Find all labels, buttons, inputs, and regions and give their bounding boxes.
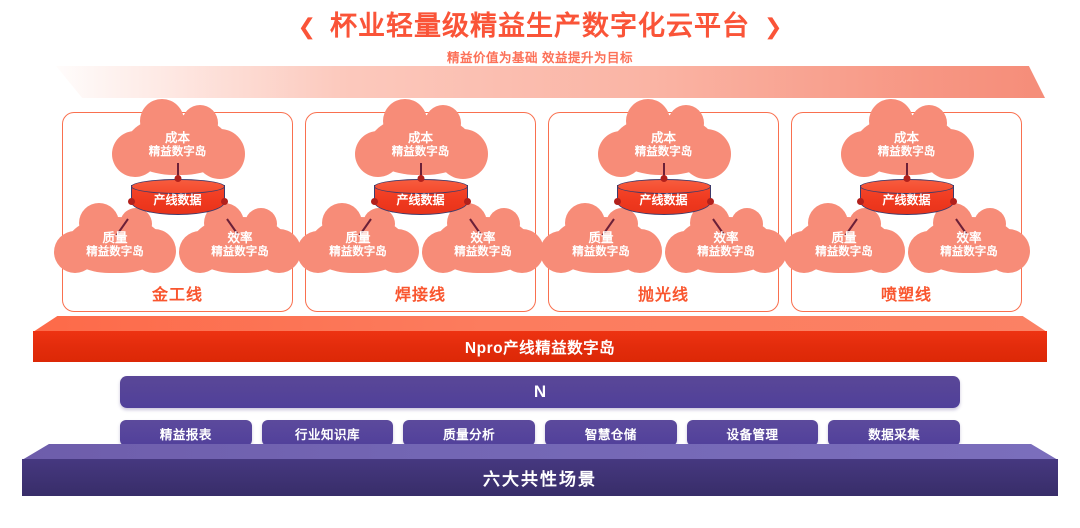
database-cylinder[interactable]: 产线数据: [860, 179, 954, 219]
production-line-card[interactable]: 成本 精益数字岛 质量 精益数字岛: [62, 112, 293, 312]
production-line-card[interactable]: 成本 精益数字岛 质量 精益数字岛: [791, 112, 1022, 312]
common-scenarios-slab[interactable]: 六大共性场景: [22, 444, 1058, 496]
cloud-subtitle: 精益数字岛: [815, 246, 873, 260]
cloud-title: 质量: [86, 231, 144, 246]
cloud-title: 成本: [149, 131, 207, 146]
cloud-title: 效率: [940, 231, 998, 246]
page-header: ❮ 杯业轻量级精益生产数字化云平台 ❯ 精益价值为基础 效益提升为目标: [0, 12, 1080, 66]
cloud-area: 成本 精益数字岛 质量 精益数字岛: [63, 113, 292, 275]
scenario-button-industry-knowledge[interactable]: 行业知识库: [262, 420, 394, 446]
scenario-button-lean-report[interactable]: 精益报表: [120, 420, 252, 446]
cloud-title: 质量: [815, 231, 873, 246]
database-label: 产线数据: [617, 191, 711, 208]
npro-platform-label: Npro产线精益数字岛: [33, 331, 1047, 362]
cloud-title: 成本: [392, 131, 450, 146]
cloud-subtitle: 精益数字岛: [635, 146, 693, 160]
cloud-title: 效率: [697, 231, 755, 246]
cloud-area: 成本 精益数字岛 质量 精益数字岛: [792, 113, 1021, 275]
scenario-button-data-collection[interactable]: 数据采集: [828, 420, 960, 446]
cloud-title: 成本: [878, 131, 936, 146]
common-scenarios-label: 六大共性场景: [22, 459, 1058, 496]
production-line-name: 抛光线: [549, 281, 778, 305]
scenario-button-smart-warehouse[interactable]: 智慧仓储: [545, 420, 677, 446]
cloud-title: 质量: [329, 231, 387, 246]
cloud-area: 成本 精益数字岛 质量 精益数字岛: [306, 113, 535, 275]
page-subtitle: 精益价值为基础 效益提升为目标: [0, 47, 1080, 66]
cloud-subtitle: 精益数字岛: [572, 246, 630, 260]
cloud-subtitle: 精益数字岛: [454, 246, 512, 260]
cloud-subtitle: 精益数字岛: [878, 146, 936, 160]
npro-platform-slab[interactable]: Npro产线精益数字岛: [33, 316, 1047, 362]
cloud-subtitle: 精益数字岛: [392, 146, 450, 160]
cloud-efficiency[interactable]: 效率 精益数字岛: [192, 217, 288, 273]
production-line-name: 金工线: [63, 281, 292, 305]
connector-dot-top: [660, 175, 667, 182]
scenario-button-row: 精益报表 行业知识库 质量分析 智慧仓储 设备管理 数据采集: [120, 420, 960, 446]
cloud-subtitle: 精益数字岛: [329, 246, 387, 260]
cloud-area: 成本 精益数字岛 质量 精益数字岛: [549, 113, 778, 275]
cloud-quality[interactable]: 质量 精益数字岛: [796, 217, 892, 273]
left-arrow-icon: ❮: [298, 16, 316, 38]
production-line-name: 喷塑线: [792, 281, 1021, 305]
cloud-quality[interactable]: 质量 精益数字岛: [310, 217, 406, 273]
cloud-efficiency[interactable]: 效率 精益数字岛: [435, 217, 531, 273]
diagram-canvas: ❮ 杯业轻量级精益生产数字化云平台 ❯ 精益价值为基础 效益提升为目标 成本 精…: [0, 0, 1080, 528]
cloud-subtitle: 精益数字岛: [940, 246, 998, 260]
cloud-efficiency[interactable]: 效率 精益数字岛: [678, 217, 774, 273]
connector-dot-top: [903, 175, 910, 182]
production-line-card[interactable]: 成本 精益数字岛 质量 精益数字岛: [305, 112, 536, 312]
database-cylinder[interactable]: 产线数据: [131, 179, 225, 219]
database-cylinder[interactable]: 产线数据: [374, 179, 468, 219]
production-line-cards: 成本 精益数字岛 质量 精益数字岛: [62, 112, 1022, 312]
production-line-card[interactable]: 成本 精益数字岛 质量 精益数字岛: [548, 112, 779, 312]
page-title: 杯业轻量级精益生产数字化云平台: [330, 12, 750, 42]
scenario-button-equipment-management[interactable]: 设备管理: [687, 420, 819, 446]
cloud-subtitle: 精益数字岛: [211, 246, 269, 260]
database-cylinder[interactable]: 产线数据: [617, 179, 711, 219]
database-label: 产线数据: [374, 191, 468, 208]
n-platform-bar[interactable]: N: [120, 376, 960, 408]
cloud-title: 效率: [211, 231, 269, 246]
right-arrow-icon: ❯: [764, 16, 782, 38]
slab-top-face: [33, 316, 1047, 332]
cloud-title: 成本: [635, 131, 693, 146]
database-label: 产线数据: [131, 191, 225, 208]
deck-top-surface: [40, 66, 1045, 98]
cloud-efficiency[interactable]: 效率 精益数字岛: [921, 217, 1017, 273]
cloud-subtitle: 精益数字岛: [149, 146, 207, 160]
cloud-quality[interactable]: 质量 精益数字岛: [553, 217, 649, 273]
cloud-title: 质量: [572, 231, 630, 246]
cloud-title: 效率: [454, 231, 512, 246]
cloud-quality[interactable]: 质量 精益数字岛: [67, 217, 163, 273]
connector-dot-top: [174, 175, 181, 182]
scenario-button-quality-analysis[interactable]: 质量分析: [403, 420, 535, 446]
cloud-subtitle: 精益数字岛: [697, 246, 755, 260]
production-line-name: 焊接线: [306, 281, 535, 305]
connector-dot-top: [417, 175, 424, 182]
title-row: ❮ 杯业轻量级精益生产数字化云平台 ❯: [0, 12, 1080, 42]
database-label: 产线数据: [860, 191, 954, 208]
cloud-subtitle: 精益数字岛: [86, 246, 144, 260]
slab-top-face: [22, 444, 1058, 460]
